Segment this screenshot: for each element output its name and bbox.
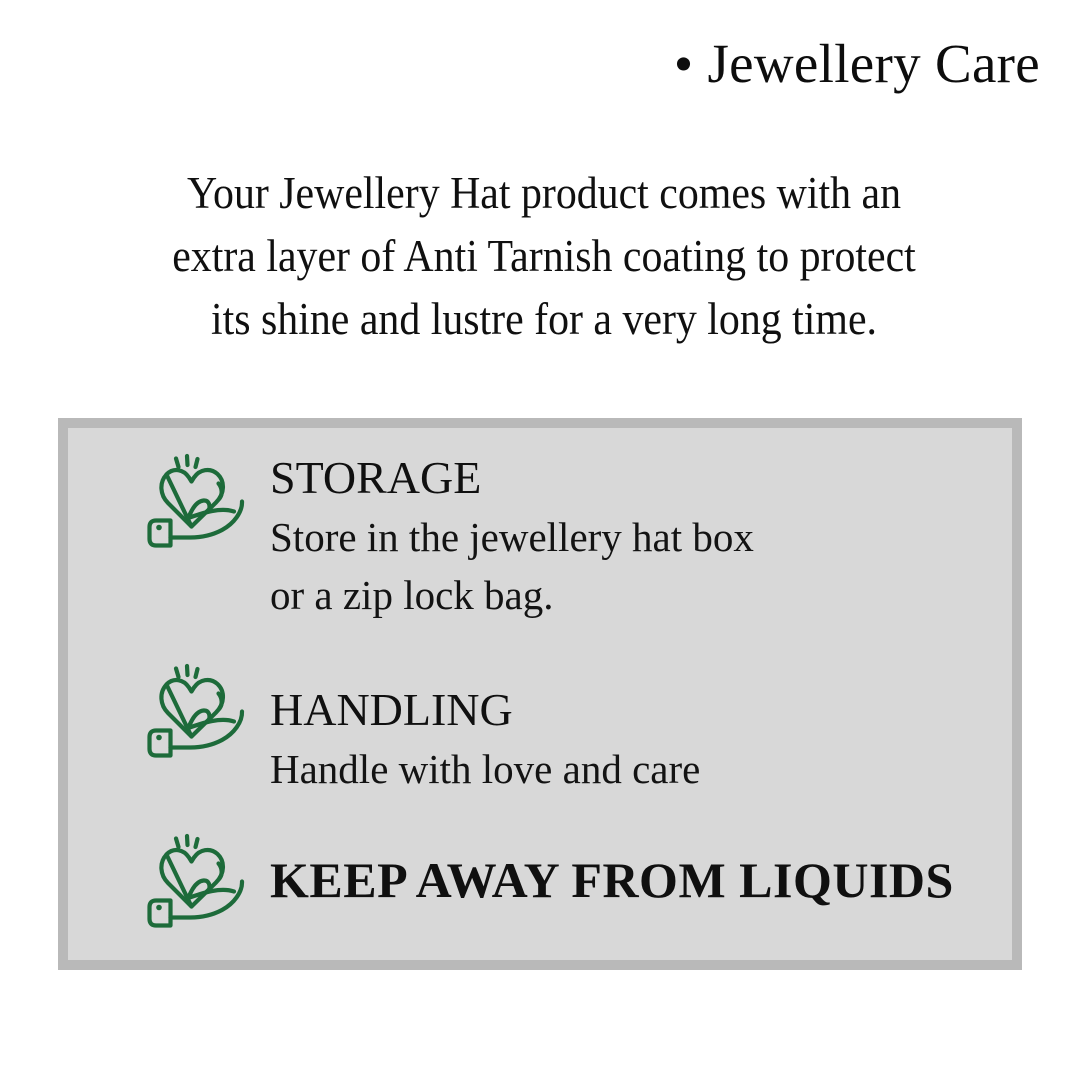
intro-paragraph: Your Jewellery Hat product comes with an…	[94, 162, 994, 351]
care-body-line: Store in the jewellery hat box	[270, 508, 754, 566]
care-instructions-panel: STORAGE Store in the jewellery hat box o…	[58, 418, 1022, 970]
intro-line-2: extra layer of Anti Tarnish coating to p…	[94, 225, 994, 288]
care-text-storage: STORAGE Store in the jewellery hat box o…	[270, 450, 754, 624]
care-heading-handling: HANDLING	[270, 684, 513, 735]
hand-holding-heart-icon	[146, 660, 250, 760]
intro-line-1: Your Jewellery Hat product comes with an	[94, 162, 994, 225]
care-row-handling: HANDLING Handle with love and care	[146, 660, 700, 798]
care-heading-liquids: KEEP AWAY FROM LIQUIDS	[270, 852, 954, 908]
care-body-storage: Store in the jewellery hat box or a zip …	[270, 508, 754, 624]
care-body-line: or a zip lock bag.	[270, 566, 754, 624]
care-row-liquids: KEEP AWAY FROM LIQUIDS	[146, 830, 954, 930]
care-body-handling: Handle with love and care	[270, 740, 700, 798]
care-body-line: Handle with love and care	[270, 740, 700, 798]
hand-holding-heart-icon	[146, 830, 250, 930]
intro-line-3: its shine and lustre for a very long tim…	[94, 288, 994, 351]
care-text-liquids: KEEP AWAY FROM LIQUIDS	[270, 853, 954, 907]
care-heading-storage: STORAGE	[270, 452, 481, 503]
care-text-handling: HANDLING Handle with love and care	[270, 660, 700, 798]
page-title: • Jewellery Care	[0, 34, 1040, 95]
care-row-storage: STORAGE Store in the jewellery hat box o…	[146, 450, 754, 624]
hand-holding-heart-icon	[146, 450, 250, 550]
